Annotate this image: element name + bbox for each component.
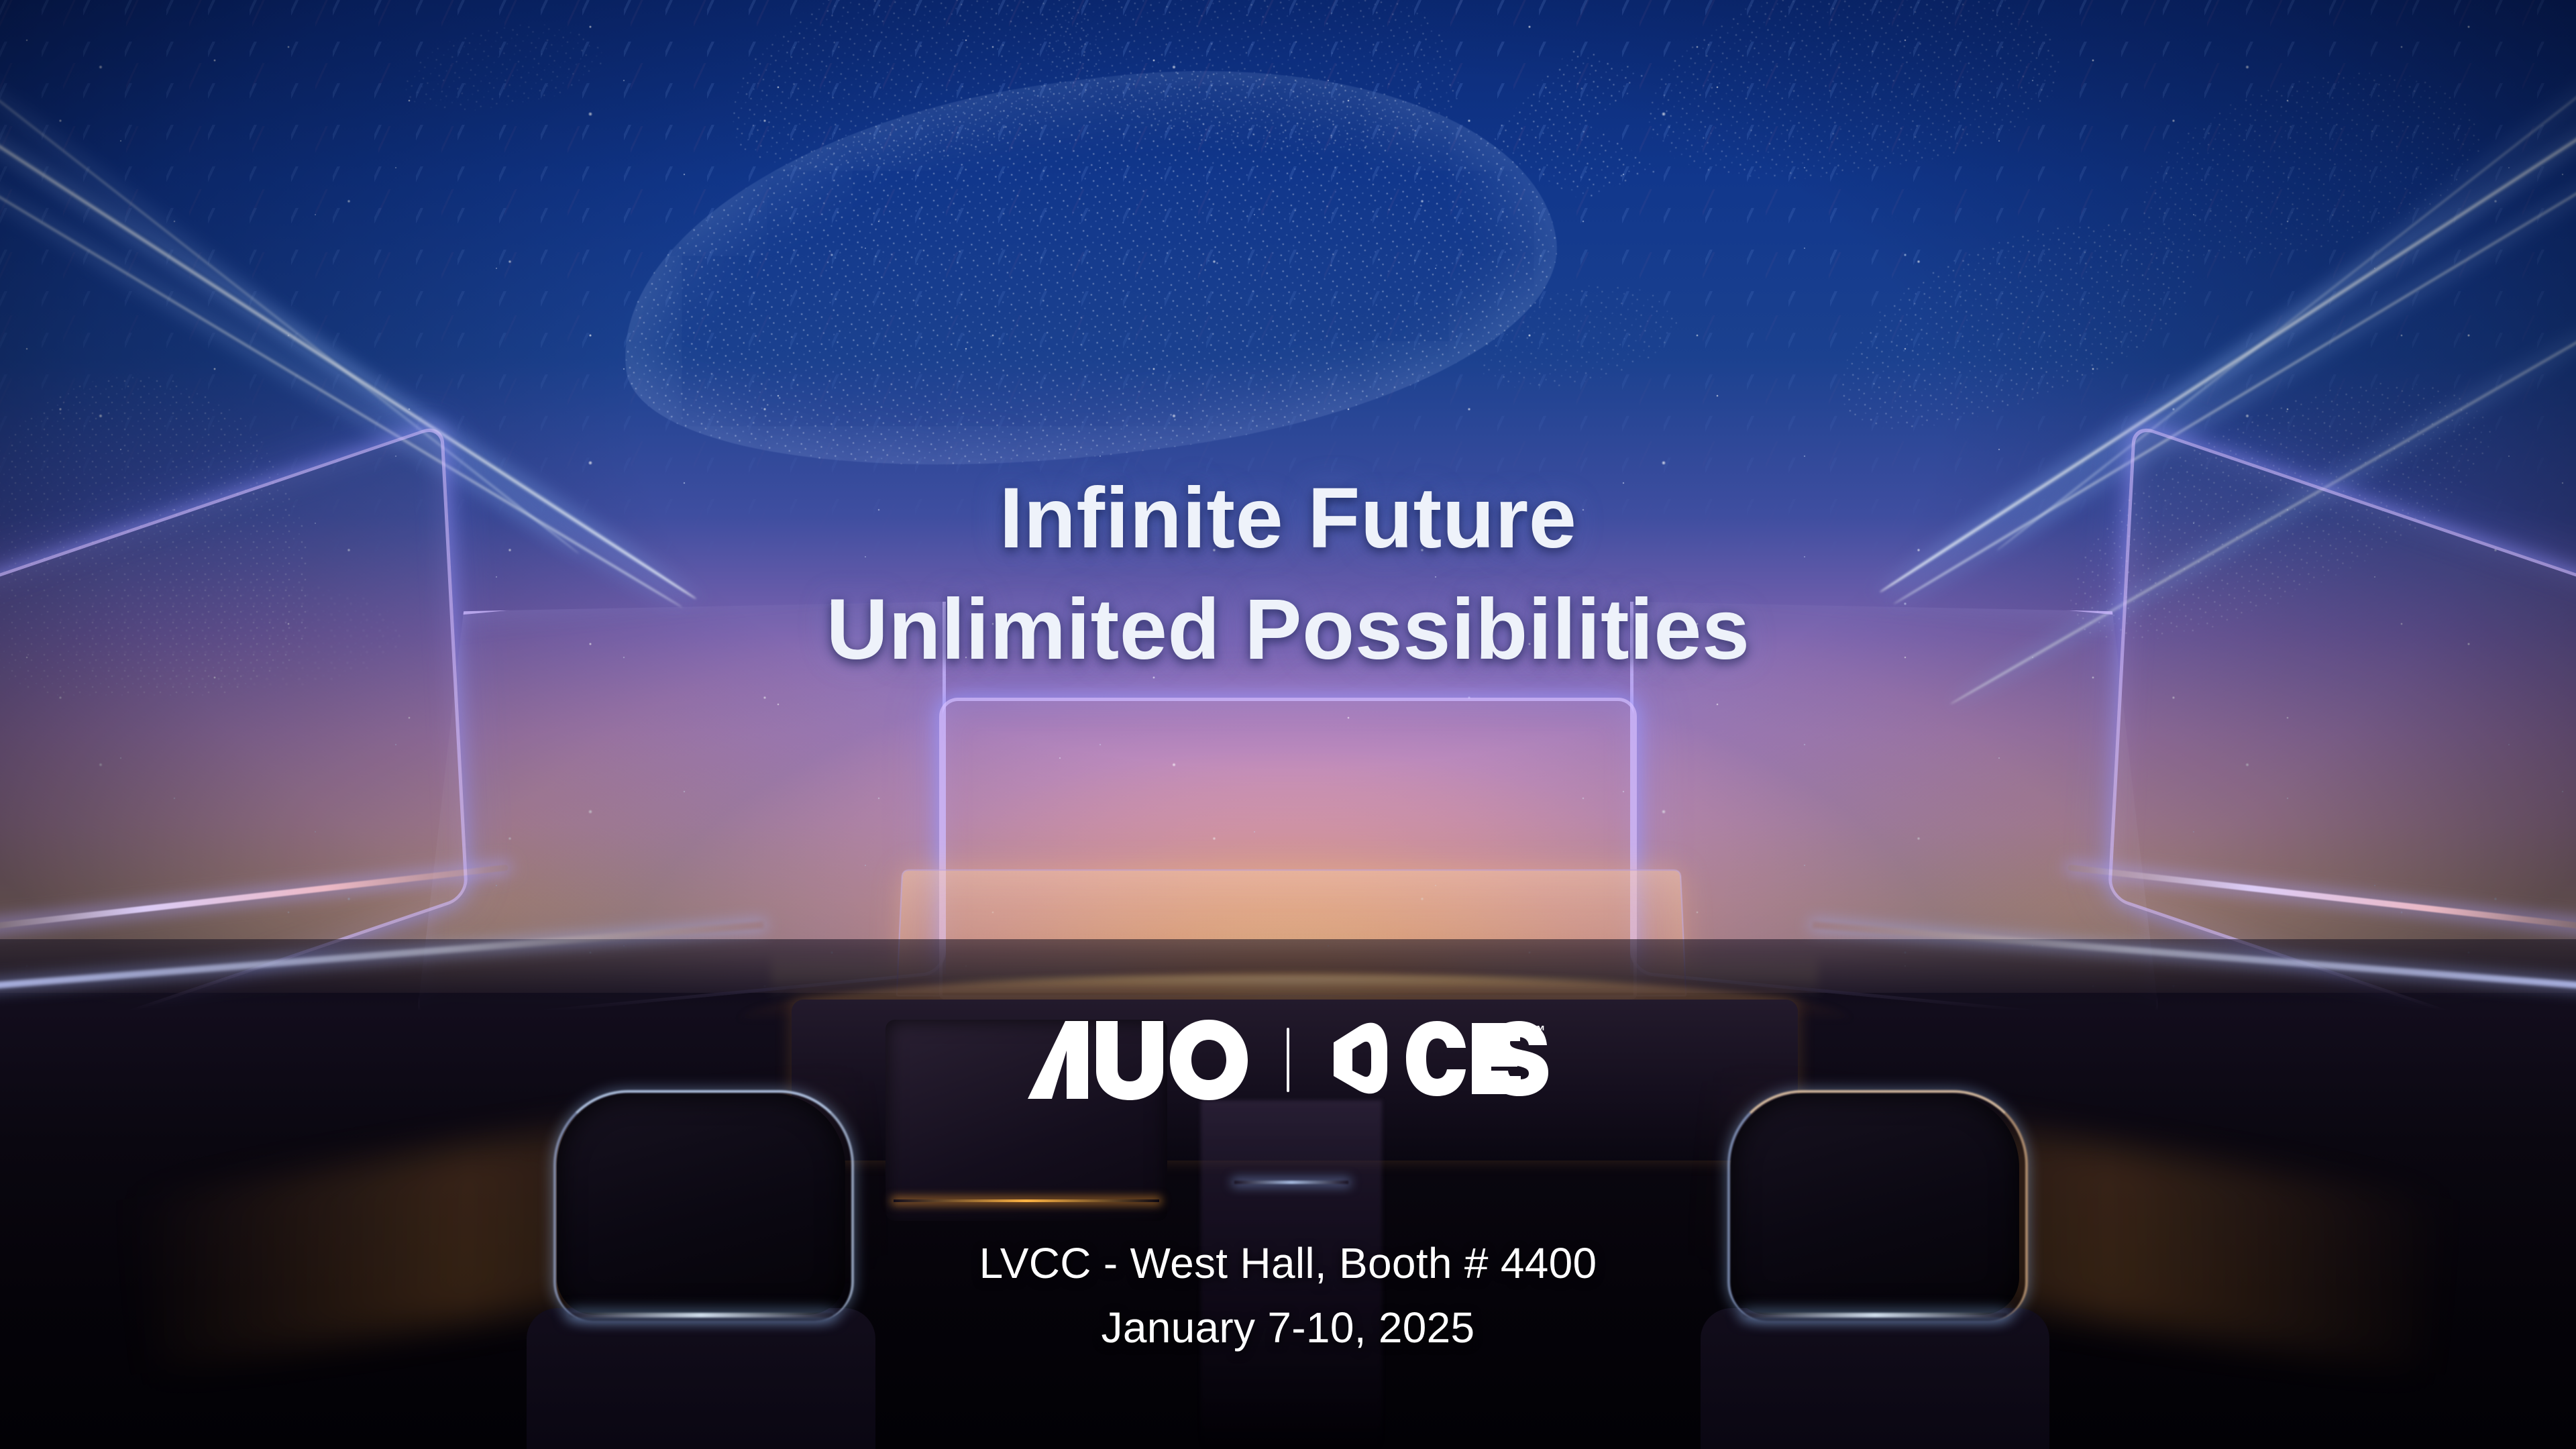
logo-divider xyxy=(1287,1028,1289,1092)
svg-text:™: ™ xyxy=(1531,1022,1546,1039)
headline: Infinite Future Unlimited Possibilities xyxy=(0,463,2576,686)
tunnel-light-strip xyxy=(1234,1181,1348,1184)
auo-logo xyxy=(1026,1020,1248,1100)
headline-line-2: Unlimited Possibilities xyxy=(0,574,2576,686)
key-visual-canvas: Infinite Future Unlimited Possibilities xyxy=(0,0,2576,1449)
headline-line-1: Infinite Future xyxy=(1000,470,1577,566)
logo-lockup: ™ xyxy=(0,1020,2576,1100)
ces-logo: ™ xyxy=(1328,1020,1550,1100)
dates-text: January 7-10, 2025 xyxy=(0,1295,2576,1360)
venue-text: LVCC - West Hall, Booth # 4400 xyxy=(979,1239,1597,1287)
footer-info: LVCC - West Hall, Booth # 4400 January 7… xyxy=(0,1231,2576,1360)
